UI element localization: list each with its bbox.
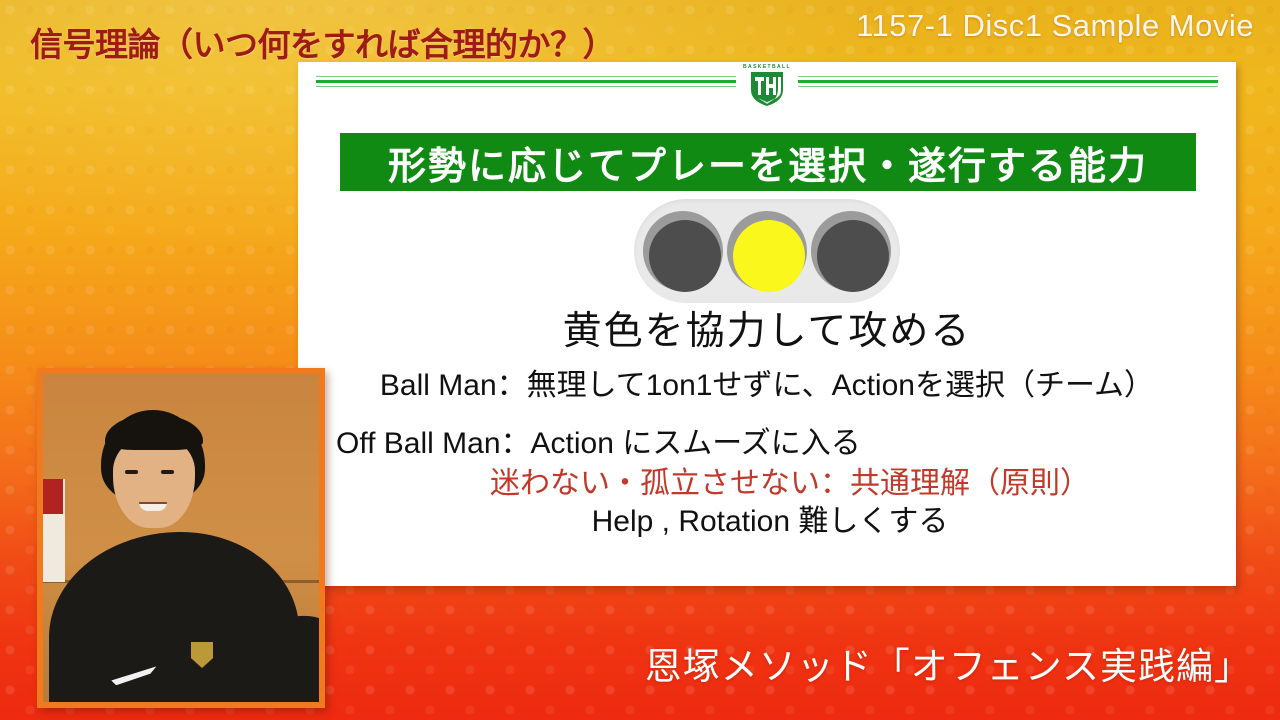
slide-headline: 黄色を協力して攻める [298,312,1236,351]
traffic-light-lamp-left [643,211,723,291]
traffic-light-lamp-center [727,211,807,291]
rule-thin-bottom [316,86,736,87]
rule-thin-bottom [798,86,1218,87]
speaker-eye-left [125,470,138,474]
slide-header: BASKETBALL [298,74,1236,124]
speaker-eye-right [161,470,174,474]
presentation-slide: BASKETBALL 形勢に応じてプレーを選択・遂行する能力 [298,62,1236,586]
lamp-inner-left [649,220,721,292]
rule-bold [316,80,736,83]
disc-title: 1157-1 Disc1 Sample Movie [856,8,1254,44]
slide-line-help-rotation: Help , Rotation 難しくする [298,507,1236,537]
wall-poster-strip [43,514,65,582]
lamp-inner-center [733,220,805,292]
rule-thin-top [798,76,1218,77]
team-logo-icon: BASKETBALL [737,64,797,110]
speaker-fringe [105,414,203,450]
lesson-title: 信号理論（いつ何をすれば合理的か？） [30,18,615,66]
slide-line-off-ball-man: Off Ball Man：Action にスムーズに入る [298,429,1236,459]
slide-line-principle: 迷わない・孤立させない：共通理解（原則） [298,469,1236,499]
series-title: 恩塚メソッド「オフェンス実践編」 [0,636,1252,690]
team-logo-wordmark: BASKETBALL [737,64,797,71]
rule-bold [798,80,1218,83]
lamp-inner-right [817,220,889,292]
team-shield-icon [747,71,787,107]
slide-rule-left [316,76,736,90]
rule-thin-top [316,76,736,77]
traffic-light-graphic [634,199,900,303]
slide-rule-right [798,76,1218,90]
slide-banner-text: 形勢に応じてプレーを選択・遂行する能力 [388,135,1148,190]
slide-banner: 形勢に応じてプレーを選択・遂行する能力 [340,133,1196,191]
traffic-light-lamp-right [811,211,891,291]
video-player-stage: 信号理論（いつ何をすれば合理的か？） 1157-1 Disc1 Sample M… [0,0,1280,720]
slide-line-ball-man: Ball Man：無理して1on1せずに、Actionを選択（チーム） [298,371,1236,401]
slide-body: 黄色を協力して攻める Ball Man：無理して1on1せずに、Actionを選… [298,312,1236,537]
